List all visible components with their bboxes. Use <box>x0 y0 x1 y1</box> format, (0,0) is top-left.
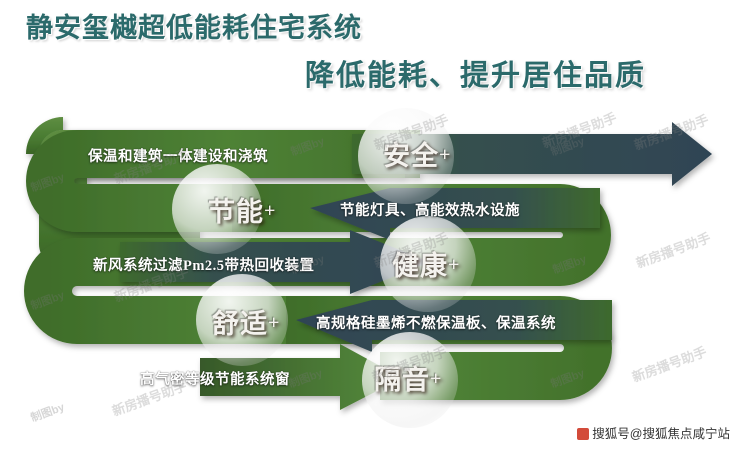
footer-attribution: 搜狐号@搜狐焦点咸宁站 <box>577 423 730 442</box>
diagram-graphic <box>0 104 740 424</box>
page-subtitle: 降低能耗、提升居住品质 <box>305 52 646 94</box>
serpentine-process-diagram: 保温和建筑一体建设和浇筑 安全+ 节能+ 节能灯具、高能效热水设施 新风系统过滤… <box>0 104 740 424</box>
page-title: 静安玺樾超低能耗住宅系统 <box>26 6 362 45</box>
slide-canvas: 静安玺樾超低能耗住宅系统 降低能耗、提升居住品质 <box>0 0 740 450</box>
sohu-logo-icon <box>577 428 589 440</box>
footer-text: 搜狐号@搜狐焦点咸宁站 <box>592 427 730 441</box>
